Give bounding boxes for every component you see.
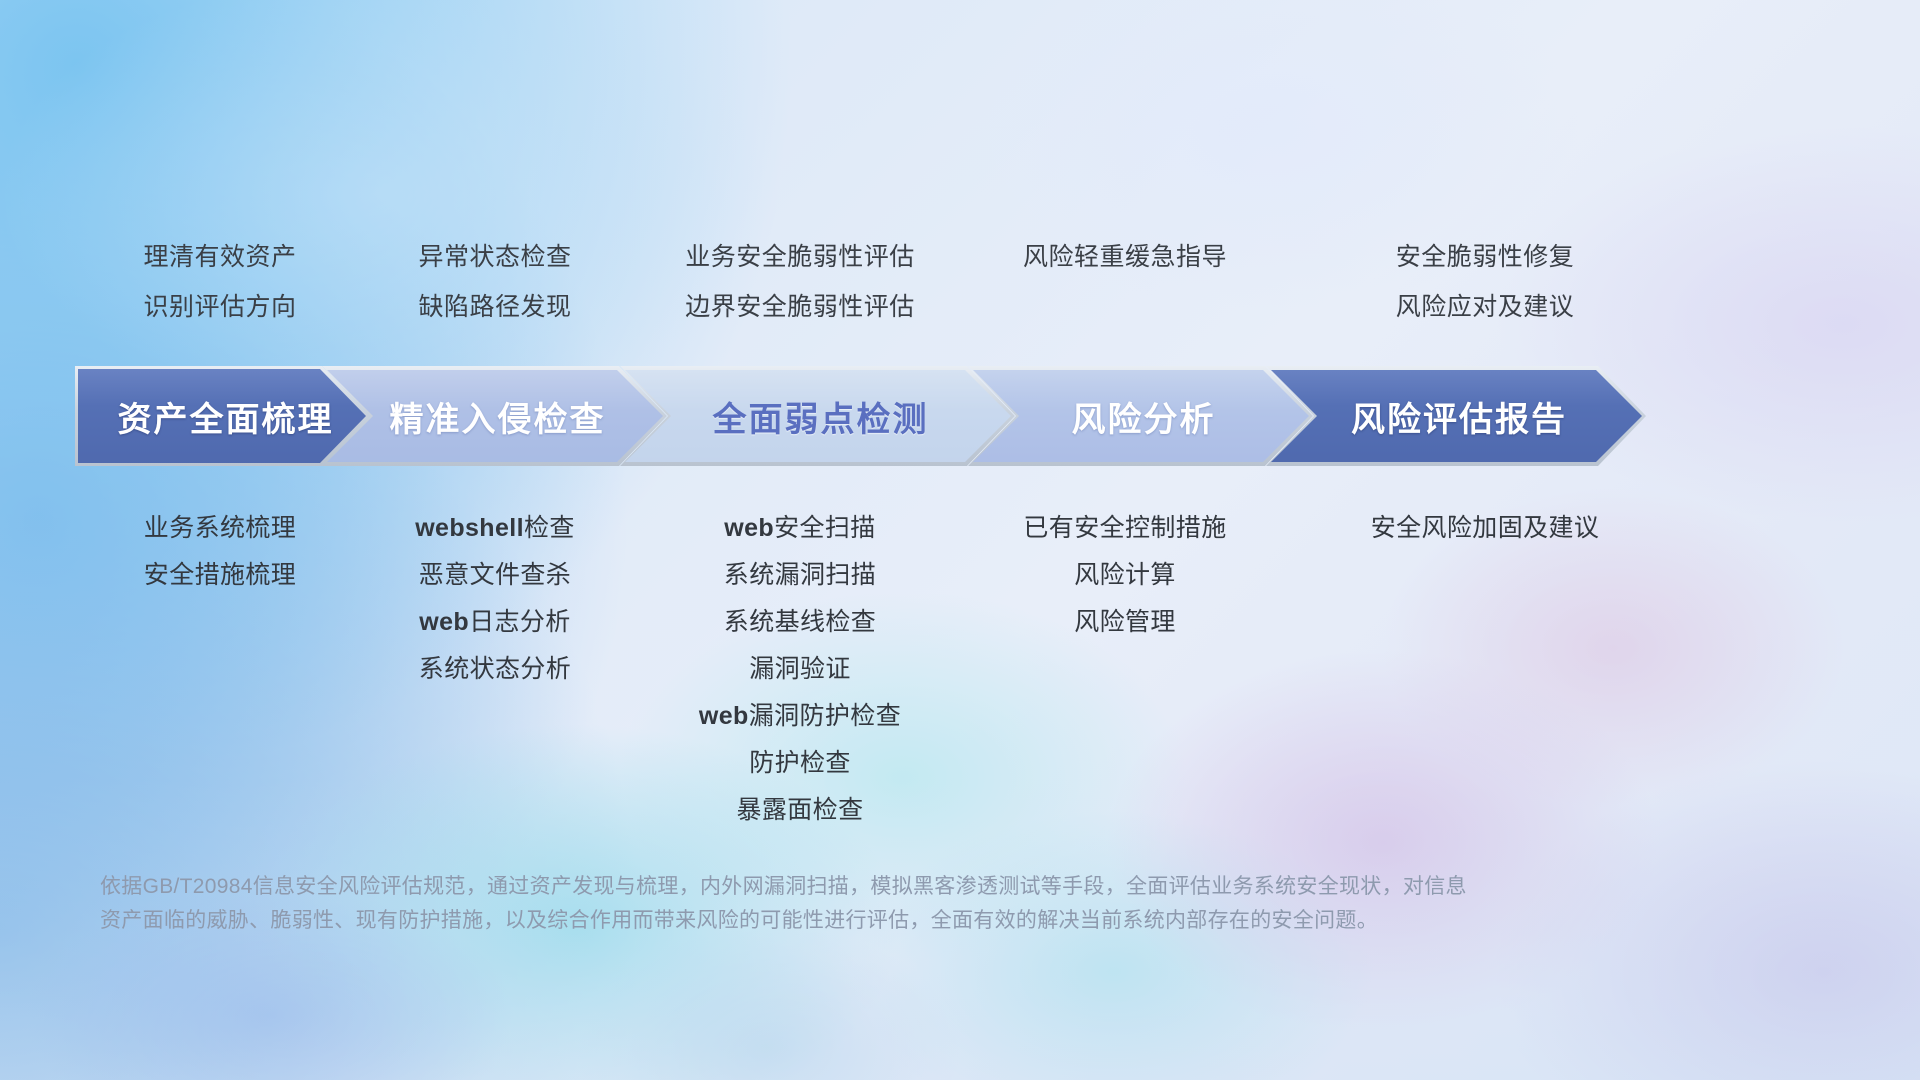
bottom-item: 风险计算 xyxy=(960,552,1290,599)
bottom-item-keyword: webshell xyxy=(415,514,524,542)
bottom-item: 系统基线检查 xyxy=(600,599,1000,646)
bottom-item-group-4: 已有安全控制措施风险计算风险管理 xyxy=(960,505,1290,646)
process-step-4[interactable]: 风险分析 xyxy=(968,366,1313,466)
bottom-item: 暴露面检查 xyxy=(600,787,1000,834)
process-chevron-band: 资产全面梳理精准入侵检查全面弱点检测风险分析风险评估报告 xyxy=(0,366,1920,466)
top-caption-item: 边界安全脆弱性评估 xyxy=(600,282,1000,332)
process-step-5[interactable]: 风险评估报告 xyxy=(1266,366,1646,466)
top-caption-group-4: 风险轻重缓急指导 xyxy=(960,232,1290,282)
top-caption-item: 业务安全脆弱性评估 xyxy=(600,232,1000,282)
bottom-item: 安全风险加固及建议 xyxy=(1270,505,1700,552)
top-caption-item: 风险应对及建议 xyxy=(1270,282,1700,332)
bottom-item: 漏洞验证 xyxy=(600,646,1000,693)
bottom-item: 系统漏洞扫描 xyxy=(600,552,1000,599)
bottom-item-text: 日志分析 xyxy=(469,608,571,636)
bottom-item: web安全扫描 xyxy=(600,505,1000,552)
bottom-item-text: 漏洞防护检查 xyxy=(749,702,901,730)
bottom-item-group-3: web安全扫描系统漏洞扫描系统基线检查漏洞验证web漏洞防护检查防护检查暴露面检… xyxy=(600,505,1000,834)
top-caption-group-5: 安全脆弱性修复风险应对及建议 xyxy=(1270,232,1700,332)
bottom-item-group-5: 安全风险加固及建议 xyxy=(1270,505,1700,552)
bottom-item-keyword: web xyxy=(699,702,749,730)
process-step-label: 风险分析 xyxy=(1066,392,1216,441)
process-step-label: 精准入侵检查 xyxy=(384,392,606,441)
bottom-item: web漏洞防护检查 xyxy=(600,693,1000,740)
top-caption-group-3: 业务安全脆弱性评估边界安全脆弱性评估 xyxy=(600,232,1000,332)
bottom-item: 防护检查 xyxy=(600,740,1000,787)
process-step-2[interactable]: 精准入侵检查 xyxy=(322,366,667,466)
process-step-1[interactable]: 资产全面梳理 xyxy=(75,366,370,466)
slide-canvas: 理清有效资产识别评估方向异常状态检查缺陷路径发现业务安全脆弱性评估边界安全脆弱性… xyxy=(0,0,1920,1080)
footer-description: 依据GB/T20984信息安全风险评估规范，通过资产发现与梳理，内外网漏洞扫描，… xyxy=(100,870,1700,938)
bottom-item-text: 安全扫描 xyxy=(774,514,876,542)
bottom-item: 风险管理 xyxy=(960,599,1290,646)
bottom-item: 已有安全控制措施 xyxy=(960,505,1290,552)
top-caption-item: 风险轻重缓急指导 xyxy=(960,232,1290,282)
diagram-content: 理清有效资产识别评估方向异常状态检查缺陷路径发现业务安全脆弱性评估边界安全脆弱性… xyxy=(0,0,1920,1080)
top-caption-item: 安全脆弱性修复 xyxy=(1270,232,1700,282)
footer-line: 依据GB/T20984信息安全风险评估规范，通过资产发现与梳理，内外网漏洞扫描，… xyxy=(100,870,1700,904)
process-step-label: 风险评估报告 xyxy=(1345,392,1567,441)
process-step-label: 全面弱点检测 xyxy=(707,392,929,441)
process-step-3[interactable]: 全面弱点检测 xyxy=(620,366,1015,466)
bottom-item-keyword: web xyxy=(419,608,469,636)
process-step-label: 资产全面梳理 xyxy=(112,392,334,441)
footer-line: 资产面临的威胁、脆弱性、现有防护措施，以及综合作用而带来风险的可能性进行评估，全… xyxy=(100,904,1700,938)
bottom-item-text: 检查 xyxy=(524,514,575,542)
bottom-item-keyword: web xyxy=(724,514,774,542)
